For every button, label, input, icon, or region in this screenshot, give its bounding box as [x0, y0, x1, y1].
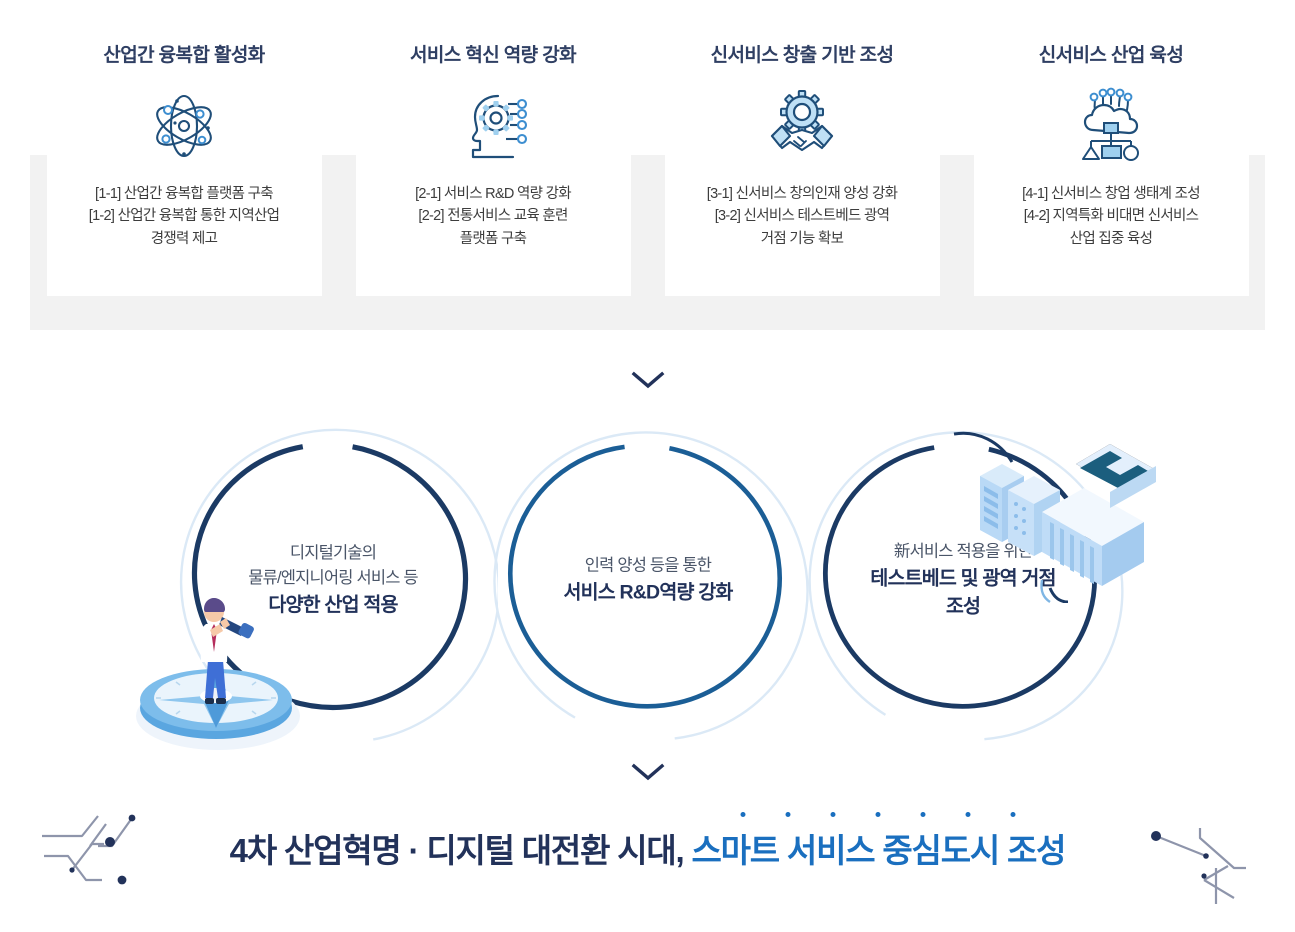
flow-arrow-top [0, 370, 1295, 390]
banner-accent-text: 스마트 서비스 중심도시 조성 [691, 832, 1065, 869]
strategy-card-2[interactable]: 서비스 혁신 역량 강화 [356, 22, 631, 296]
banner-headline: 4차 산업혁명 · 디지털 대전환 시대, 스마트 서비스 중심도시 조성 [230, 834, 1066, 867]
emphasis-dot [921, 812, 926, 817]
card-title: 서비스 혁신 역량 강화 [410, 40, 576, 67]
strategy-card-list: 산업간 융복합 활성화 [0, 22, 1295, 302]
circle-text-2: 인력 양성 등을 통한 서비스 R&D역량 강화 [483, 553, 813, 606]
circle-strongtext: 서비스 R&D역량 강화 [483, 578, 813, 606]
circle-group-1[interactable]: 디지털기술의 물류/엔지니어링 서비스 등 다양한 산업 적용 [168, 408, 498, 752]
card-line: [3-2] 신서비스 테스트베드 광역 [707, 205, 898, 227]
emphasis-dot [966, 812, 971, 817]
circle-group-3[interactable]: 新서비스 적용을 위한 테스트베드 및 광역 거점 조성 [798, 408, 1128, 752]
emphasis-dot [786, 812, 791, 817]
strategy-section: 산업간 융복합 활성화 [0, 0, 1295, 340]
card-detail-lines: [4-1] 신서비스 창업 생태계 조성 [4-2] 지역특화 비대면 신서비스… [1022, 183, 1200, 250]
card-title: 신서비스 창출 기반 조성 [711, 40, 894, 67]
emphasis-dot [741, 812, 746, 817]
card-line: [1-2] 산업간 융복합 통한 지역산업 [89, 205, 280, 227]
card-line: [2-2] 전통서비스 교육 훈련 [415, 205, 571, 227]
emphasis-dot [831, 812, 836, 817]
card-line: [4-1] 신서비스 창업 생태계 조성 [1022, 183, 1200, 205]
strategy-card-1[interactable]: 산업간 융복합 활성화 [47, 22, 322, 296]
card-detail-lines: [1-1] 산업간 융복합 플랫폼 구축 [1-2] 산업간 융복합 통한 지역… [89, 183, 280, 250]
card-line: 플랫폼 구축 [415, 228, 571, 250]
flow-arrow-bottom [0, 762, 1295, 782]
emphasis-dot [876, 812, 881, 817]
bottom-banner: 4차 산업혁명 · 디지털 대전환 시대, 스마트 서비스 중심도시 조성 [0, 800, 1295, 900]
circuit-lines-right-decoration [1146, 806, 1266, 906]
card-title: 신서비스 산업 육성 [1039, 40, 1183, 67]
strategy-card-3[interactable]: 신서비스 창출 기반 조성 [665, 22, 940, 296]
head-gear-network-icon [451, 83, 535, 169]
card-line: 경쟁력 제고 [89, 228, 280, 250]
card-line: 거점 기능 확보 [707, 228, 898, 250]
card-line: [4-2] 지역특화 비대면 신서비스 [1022, 205, 1200, 227]
chevron-down-icon [631, 370, 665, 390]
card-line: [3-1] 신서비스 창의인재 양성 강화 [707, 183, 898, 205]
businessman-telescope-compass-illustration [116, 568, 321, 753]
banner-accent-label: 스마트 서비스 중심도시 조성 [691, 832, 1065, 869]
cloud-network-icon [1069, 83, 1153, 169]
handshake-gear-icon [760, 83, 844, 169]
emphasis-dot [1011, 812, 1016, 817]
card-line: 산업 집중 육성 [1022, 228, 1200, 250]
card-detail-lines: [2-1] 서비스 R&D 역량 강화 [2-2] 전통서비스 교육 훈련 플랫… [415, 183, 571, 250]
atom-icon [142, 83, 226, 169]
card-line: [2-1] 서비스 R&D 역량 강화 [415, 183, 571, 205]
card-detail-lines: [3-1] 신서비스 창의인재 양성 강화 [3-2] 신서비스 테스트베드 광… [707, 183, 898, 250]
circle-subtext: 인력 양성 등을 통한 [483, 553, 813, 578]
circle-subtext: 디지털기술의 [168, 541, 498, 566]
strategy-card-4[interactable]: 신서비스 산업 육성 [974, 22, 1249, 296]
chevron-down-icon [631, 762, 665, 782]
card-title: 산업간 융복합 활성화 [103, 40, 264, 67]
emphasis-dots [741, 812, 1016, 817]
card-line: [1-1] 산업간 융복합 플랫폼 구축 [89, 183, 280, 205]
banner-dark-text: 4차 산업혁명 · 디지털 대전환 시대, [230, 832, 692, 869]
circles-section: 디지털기술의 물류/엔지니어링 서비스 등 다양한 산업 적용 인력 양성 등을… [0, 408, 1295, 758]
isometric-buildings-illustration [946, 428, 1161, 603]
circle-group-2[interactable]: 인력 양성 등을 통한 서비스 R&D역량 강화 [483, 408, 813, 752]
